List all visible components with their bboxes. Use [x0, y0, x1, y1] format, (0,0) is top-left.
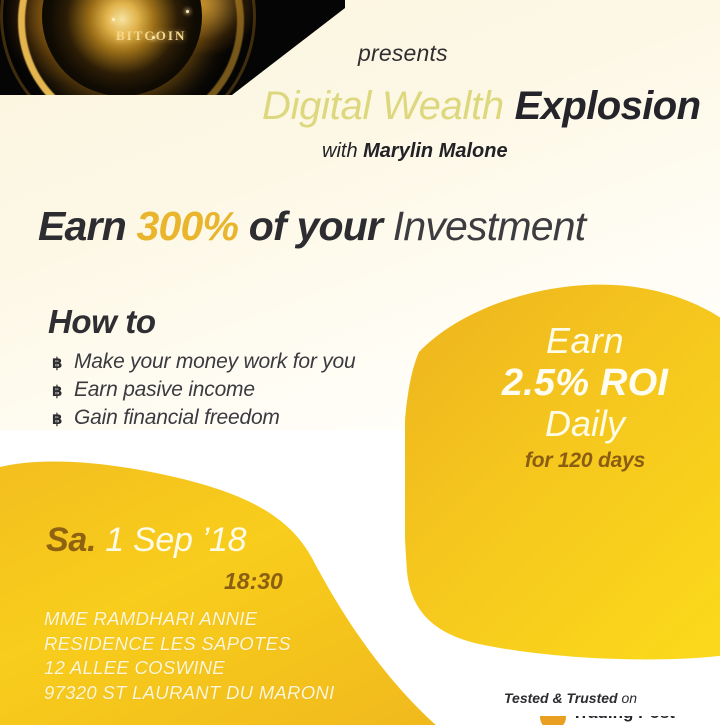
list-item-label: Gain financial freedom — [74, 406, 280, 430]
list-item: ฿ Make your money work for you — [52, 350, 356, 374]
title-bold-part: Explosion — [515, 84, 701, 128]
roi-callout: Earn 2.5% ROI Daily for 120 days — [460, 323, 710, 472]
roi-earn-label: Earn — [460, 323, 710, 360]
event-address: MME RAMDHARI ANNIE RESIDENCE LES SAPOTES… — [44, 607, 335, 705]
bitcoin-bullet-icon: ฿ — [52, 410, 74, 428]
headline-part1: Earn — [38, 203, 137, 249]
spark-icon — [186, 10, 189, 13]
title-soft-part: Digital Wealth — [262, 84, 504, 128]
bitcoin-bullet-icon: ฿ — [52, 354, 74, 372]
headline-part2: of your — [238, 203, 393, 249]
presents-label: presents — [358, 40, 448, 67]
poster-canvas: BITCOIN — [0, 0, 720, 725]
event-date: Sa. 1 Sep ’18 — [46, 521, 246, 560]
spark-icon — [112, 18, 115, 21]
headline-part3: Investment — [393, 203, 586, 249]
headline-percent: 300% — [137, 203, 239, 249]
address-line: MME RAMDHARI ANNIE — [44, 607, 335, 632]
list-item-label: Make your money work for you — [74, 350, 356, 374]
list-item-label: Earn pasive income — [74, 378, 255, 402]
event-time: 18:30 — [224, 568, 283, 595]
partner-logo: Trading Post — [540, 716, 720, 725]
partner-logo-text: Trading Post — [572, 716, 675, 723]
trusted-bold-text: Tested & Trusted — [504, 690, 618, 706]
list-item: ฿ Earn pasive income — [52, 378, 356, 402]
page-title: Digital Wealth Explosion — [262, 84, 700, 129]
roi-daily-label: Daily — [460, 406, 710, 443]
speaker-name: Marylin Malone — [363, 140, 507, 162]
main-headline: Earn 300% of your Investment — [38, 203, 585, 250]
speaker-line: with Marylin Malone — [322, 140, 508, 163]
address-line: 12 ALLEE COSWINE — [44, 656, 335, 681]
howto-heading: How to — [48, 303, 156, 341]
roi-duration-label: for 120 days — [460, 450, 710, 471]
address-line: RESIDENCE LES SAPOTES — [44, 632, 335, 657]
partner-logo-dot-icon — [540, 716, 566, 725]
address-line: 97320 ST LAURANT DU MARONI — [44, 681, 335, 706]
event-date-value: 1 Sep ’18 — [96, 521, 246, 559]
bitcoin-bullet-icon: ฿ — [52, 382, 74, 400]
trusted-rest-text: on — [618, 690, 637, 706]
howto-list: ฿ Make your money work for you ฿ Earn pa… — [52, 350, 356, 434]
with-prefix: with — [322, 140, 363, 162]
event-weekday: Sa. — [46, 521, 96, 559]
bitcoin-wordmark: BITCOIN — [116, 28, 186, 44]
list-item: ฿ Gain financial freedom — [52, 406, 356, 430]
roi-rate-value: 2.5% ROI — [460, 364, 710, 403]
trusted-label: Tested & Trusted on — [504, 690, 637, 706]
